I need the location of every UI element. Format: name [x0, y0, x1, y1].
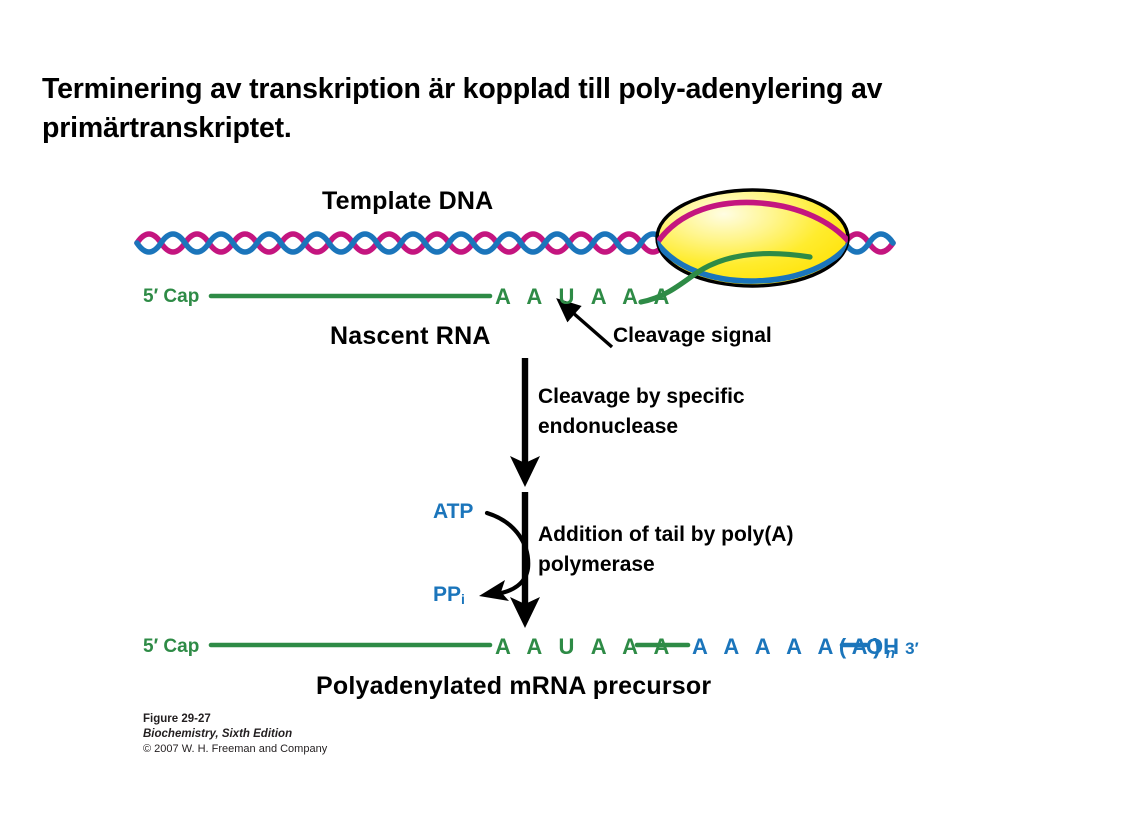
caption-figure-number: Figure 29-27	[143, 712, 327, 727]
oh-label: OH	[866, 634, 899, 659]
three-prime-label: 3′	[905, 639, 919, 658]
caption-copyright: © 2007 W. H. Freeman and Company	[143, 742, 327, 757]
label-cleavage-signal-sequence: A A U A A A	[495, 284, 675, 310]
figure-caption: Figure 29-27 Biochemistry, Sixth Edition…	[143, 712, 327, 757]
ppi-main: PP	[433, 583, 461, 606]
figure-diagram: Template DNA Nascent RNA 5′ Cap A A U A …	[0, 0, 1130, 816]
label-pyrophosphate: PPi	[433, 583, 465, 607]
label-step-cleavage-by-endonuclease: Cleavage by specific endonuclease	[538, 382, 808, 442]
label-nascent-rna: Nascent RNA	[330, 322, 491, 351]
label-five-prime-cap-bottom: 5′ Cap	[143, 636, 199, 658]
label-cleavage-signal: Cleavage signal	[613, 324, 772, 348]
label-template-dna: Template DNA	[322, 187, 493, 216]
label-atp: ATP	[433, 500, 473, 524]
label-polyadenylated-mrna-precursor: Polyadenylated mRNA precursor	[316, 672, 711, 701]
caption-book-title: Biochemistry, Sixth Edition	[143, 727, 327, 742]
cleavage-signal-arrow	[572, 312, 612, 347]
label-five-prime-cap-top: 5′ Cap	[143, 286, 199, 308]
label-aauaaa-bottom: A A U A A A	[495, 634, 675, 660]
ppi-subscript: i	[461, 591, 465, 607]
label-hydroxyl-three-prime: OH 3′	[866, 634, 919, 660]
label-poly-a-tail: A A A A A(A)n	[692, 634, 895, 662]
atp-to-ppi-curved-arrow	[479, 513, 528, 601]
slide-canvas: Terminering av transkription är kopplad …	[0, 0, 1130, 816]
label-step-addition-of-tail: Addition of tail by poly(A) polymerase	[538, 520, 808, 580]
step-arrow-cleavage	[510, 358, 540, 487]
poly-a-letters: A A A A A(A)	[692, 634, 886, 659]
step-arrow-polyadenylation	[510, 492, 540, 628]
